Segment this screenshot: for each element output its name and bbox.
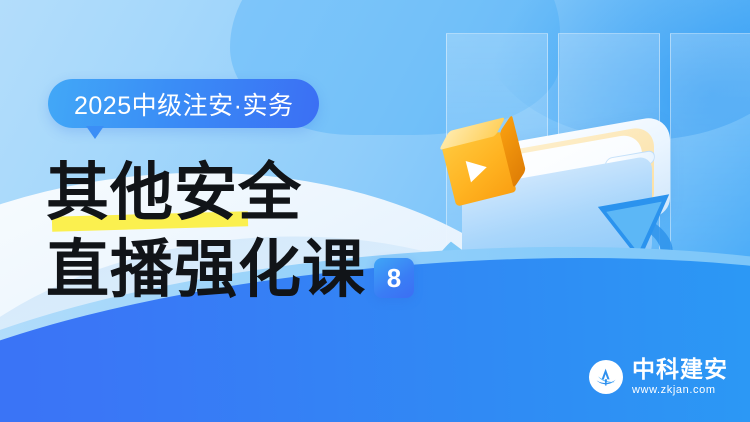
zkjan-logo-icon — [589, 360, 623, 394]
episode-count-badge: 8 — [374, 258, 414, 298]
brand-logo: 中科建安 www.zkjan.com — [589, 358, 728, 396]
brand-name: 中科建安 — [632, 358, 728, 381]
course-promo-banner: 2025中级注安·实务 其他安全 直播强化课 8 中科建安 www.zkjan.… — [0, 0, 750, 422]
headline-block: 其他安全 直播强化课 8 — [46, 152, 466, 306]
course-category-label: 2025中级注安·实务 — [74, 86, 293, 122]
course-category-tag: 2025中级注安·实务 — [48, 79, 319, 128]
course-category-tag-pointer — [86, 126, 104, 139]
brand-url: www.zkjan.com — [632, 385, 728, 396]
brand-logo-text: 中科建安 www.zkjan.com — [632, 358, 728, 396]
headline-row-2: 直播强化课 8 — [46, 229, 466, 306]
headline-line-2: 直播强化课 — [46, 234, 366, 306]
headline-row-1: 其他安全 — [46, 152, 466, 229]
headline-line-1: 其他安全 — [46, 157, 302, 229]
